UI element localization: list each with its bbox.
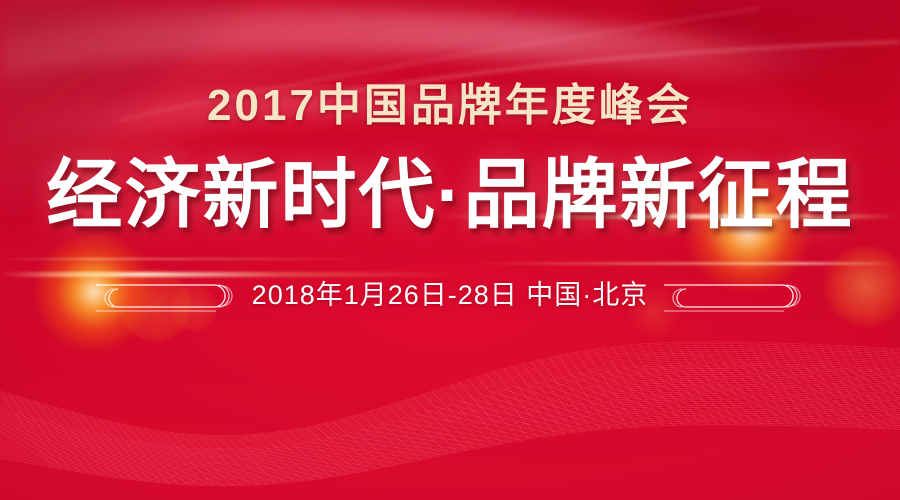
- event-subtitle: 2017中国品牌年度峰会: [207, 84, 693, 128]
- event-date-location: 2018年1月26日-28日 中国·北京: [252, 273, 649, 312]
- banner-content: 2017中国品牌年度峰会 经济新时代·品牌新征程 2018年1月26日-28日 …: [0, 0, 900, 500]
- scroll-flourish-left-icon: [96, 270, 236, 316]
- event-title: 经济新时代·品牌新征程: [46, 156, 853, 236]
- event-banner: 2017中国品牌年度峰会 经济新时代·品牌新征程 2018年1月26日-28日 …: [0, 0, 900, 500]
- scroll-flourish-right-icon: [664, 270, 804, 316]
- date-location-row: 2018年1月26日-28日 中国·北京: [0, 270, 900, 316]
